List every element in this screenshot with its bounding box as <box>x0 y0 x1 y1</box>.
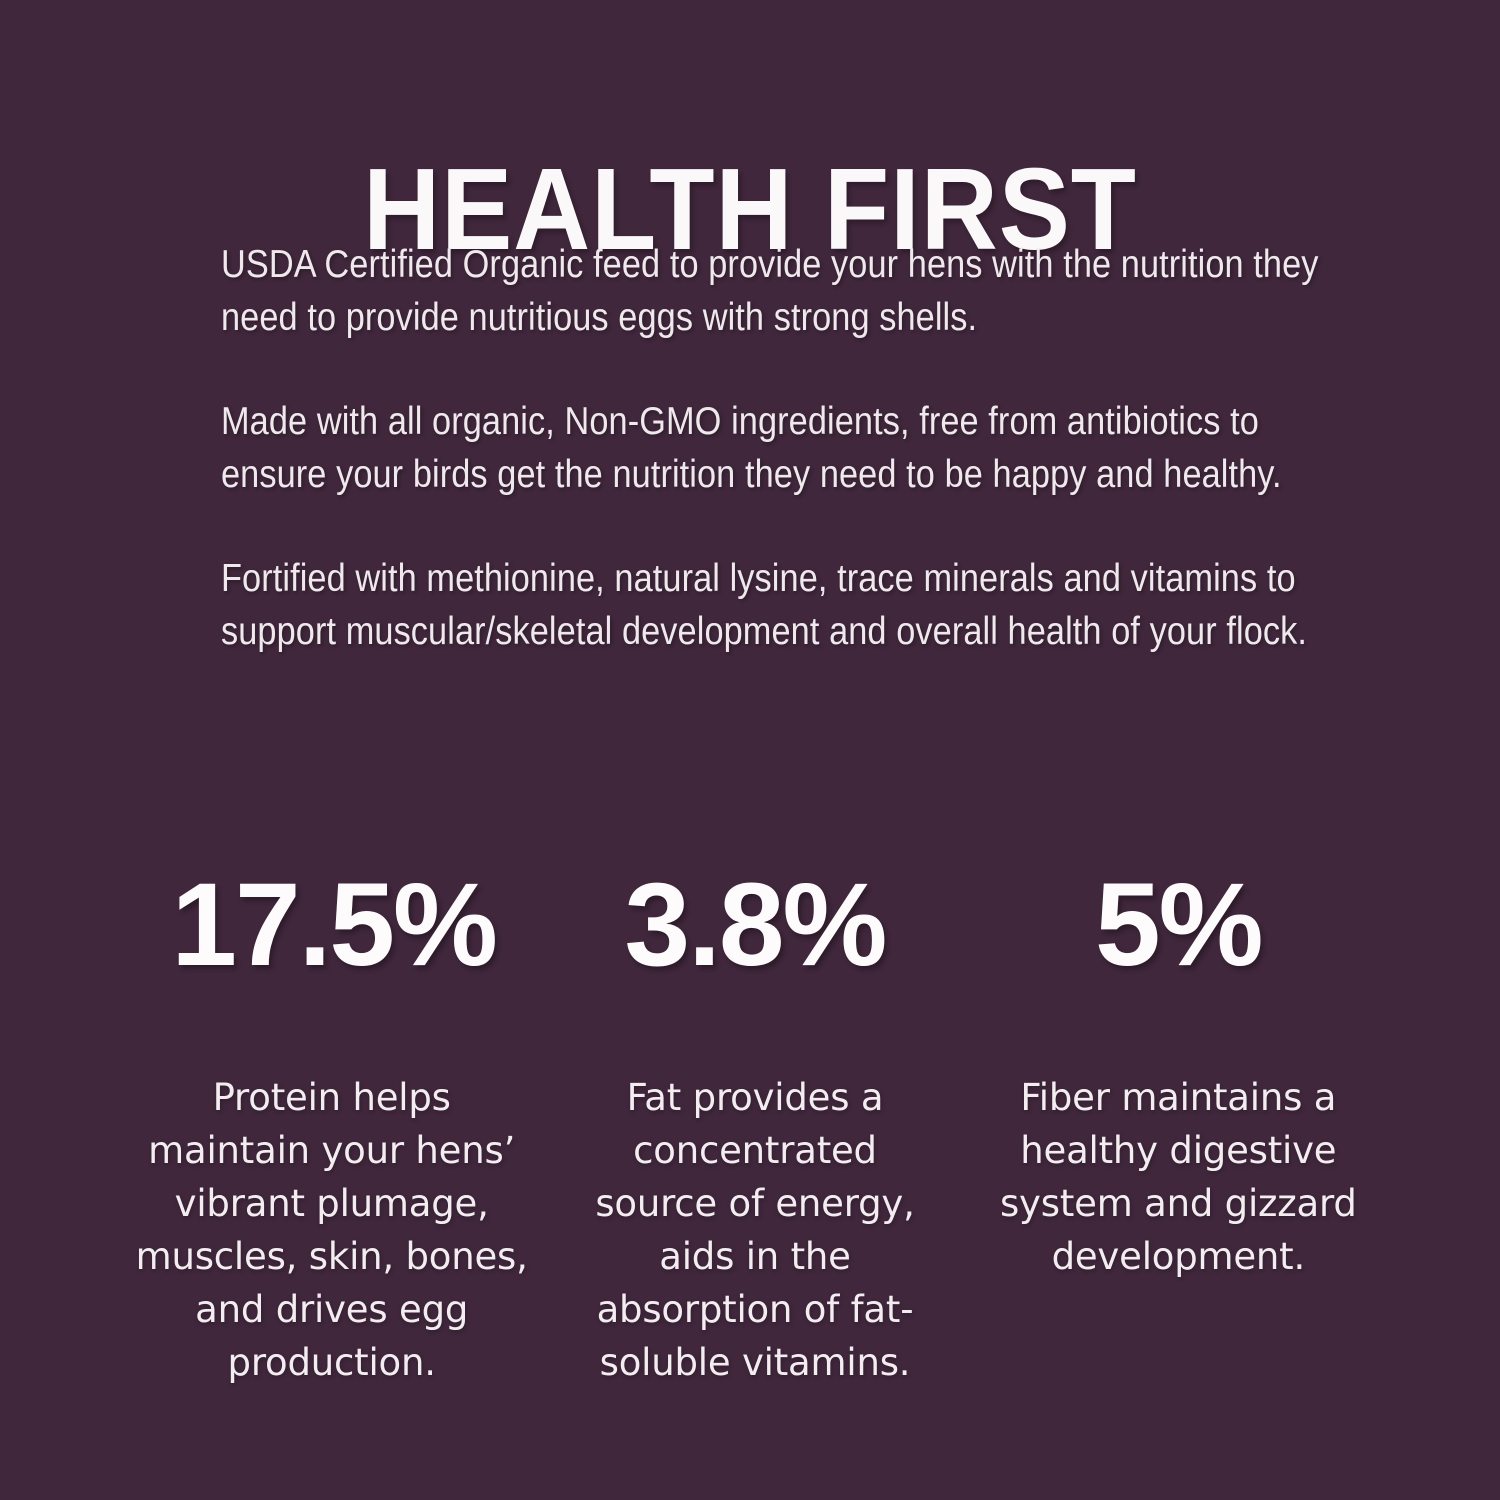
stat-fiber-description: Fiber maintains a healthy digestive syst… <box>978 1071 1378 1283</box>
stat-protein-value: 17.5% <box>171 862 496 988</box>
stat-fiber-value: 5% <box>1095 862 1262 988</box>
stat-fat-value: 3.8% <box>625 862 886 988</box>
stat-fat-description: Fat provides a concentrated source of en… <box>585 1071 925 1389</box>
body-paragraph-1: USDA Certified Organic feed to provide y… <box>221 238 1331 344</box>
nutrition-stats-row: 17.5% Protein helps maintain your hens’ … <box>120 862 1390 1389</box>
stat-fiber: 5% Fiber maintains a healthy digestive s… <box>967 862 1390 1283</box>
stat-fat: 3.8% Fat provides a concentrated source … <box>543 862 966 1389</box>
body-copy: USDA Certified Organic feed to provide y… <box>221 238 1331 658</box>
body-paragraph-2: Made with all organic, Non-GMO ingredien… <box>221 395 1331 501</box>
body-paragraph-3: Fortified with methionine, natural lysin… <box>221 552 1331 658</box>
product-feature-poster: HEALTH FIRST USDA Certified Organic feed… <box>0 0 1500 1500</box>
stat-protein-description: Protein helps maintain your hens’ vibran… <box>134 1071 529 1389</box>
stat-protein: 17.5% Protein helps maintain your hens’ … <box>120 862 543 1389</box>
